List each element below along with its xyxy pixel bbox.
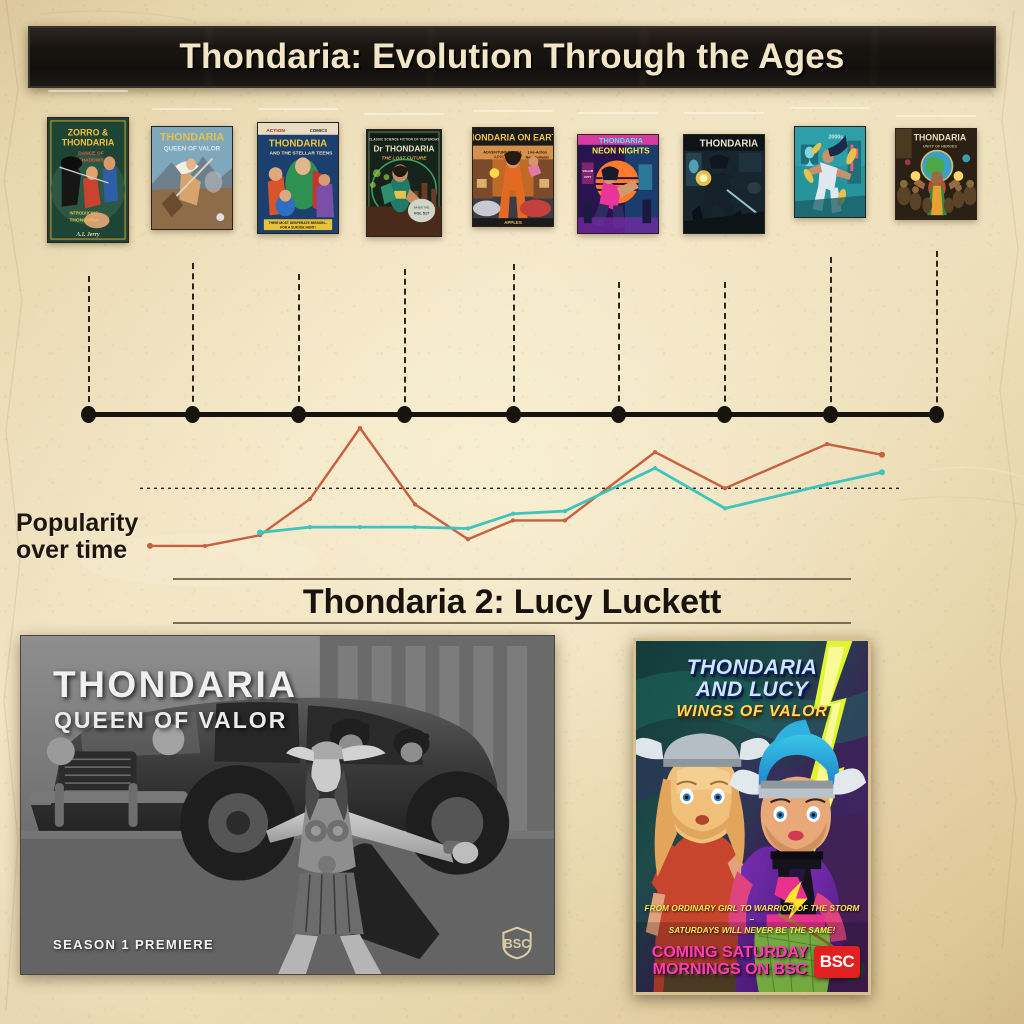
cover-artwork: THONDARIA ON EARTH ADVENTURES WITH APPLE… — [473, 128, 553, 226]
cover-artwork: THONDARIA NEON NIGHTS VALOR CITY — [578, 135, 658, 233]
svg-text:APPLES: APPLES — [504, 220, 522, 225]
chart-point — [203, 544, 207, 548]
svg-text:COMICS: COMICS — [310, 128, 328, 133]
cover-artwork: CLASSIC SCIENCE FICTION OF YESTERDAY Dr … — [367, 130, 441, 236]
svg-text:2000s: 2000s — [828, 135, 843, 141]
chart-point — [723, 506, 727, 510]
svg-text:THONDARIA: THONDARIA — [599, 136, 644, 145]
chart-series-1 — [257, 466, 885, 535]
cover-artwork: THONDARIA UNITY OF HEROES — [896, 129, 976, 219]
poster-bw-title: THONDARIA — [53, 664, 297, 706]
cover-artwork: THONDARIA QUEEN OF VALOR — [152, 127, 232, 229]
section2-rule-bottom — [173, 622, 851, 624]
chart-point — [466, 537, 470, 541]
chart-point — [257, 530, 263, 536]
infographic-poster: Thondaria: Evolution Through the Ages ZO… — [0, 0, 1024, 1024]
cover-thumbnail-1960s[interactable]: CLASSIC SCIENCE FICTION OF YESTERDAY Dr … — [366, 129, 442, 237]
chart-point — [563, 518, 567, 522]
svg-text:BSC: BSC — [504, 936, 531, 951]
poster-bw-subtitle: QUEEN OF VALOR — [54, 707, 287, 734]
chart-point — [653, 466, 657, 470]
svg-text:ZORRO &: ZORRO & — [68, 128, 109, 138]
section2-title: Thondaria 2: Lucy Luckett — [0, 583, 1024, 622]
timeline-tick-2000s — [830, 257, 832, 412]
chart-point — [413, 502, 417, 506]
chart-point — [825, 442, 829, 446]
title-banner: Thondaria: Evolution Through the Ages — [28, 26, 996, 88]
cover-artwork: ACTION COMICS THONDARIA AND THE STELLAR … — [258, 123, 338, 233]
timeline-tick-1950s — [298, 274, 300, 412]
decade-label-1930s — [48, 90, 128, 92]
svg-text:THE LOST FUTURE: THE LOST FUTURE — [381, 155, 427, 161]
timeline-tick-1980s — [618, 282, 620, 413]
chart-point — [653, 450, 657, 454]
decade-label-2000s — [790, 107, 870, 109]
chart-point — [308, 525, 312, 529]
cover-thumbnail-1980s[interactable]: THONDARIA NEON NIGHTS VALOR CITY — [577, 134, 659, 234]
chart-series-0 — [147, 426, 885, 549]
decade-label-1950s — [258, 108, 338, 110]
svg-text:CITY: CITY — [584, 175, 592, 179]
cover-thumbnail-1970s[interactable]: THONDARIA ON EARTH ADVENTURES WITH APPLE… — [472, 127, 554, 227]
svg-text:ACTION: ACTION — [266, 128, 285, 134]
poster-bw-footer: SEASON 1 PREMIERE — [53, 937, 214, 952]
section2-rule-top — [173, 578, 851, 580]
chart-axis-label: Popularity over time — [16, 510, 138, 564]
svg-text:VOL 517: VOL 517 — [414, 210, 430, 215]
chart-point — [466, 526, 470, 530]
svg-text:Dr THONDARIA: Dr THONDARIA — [373, 144, 434, 154]
svg-text:WHEN THE: WHEN THE — [414, 206, 430, 210]
bsc-shield-icon: BSC — [500, 926, 534, 960]
chart-point — [358, 426, 362, 430]
svg-text:THONDARIA: THONDARIA — [914, 133, 967, 143]
poster-color-title: THONDARIA AND LUCY — [636, 657, 868, 701]
cover-artwork: ZORRO & THONDARIA DANCE OF SHADOWS INTRO… — [48, 118, 128, 242]
poster-thondaria-queen-of-valor[interactable]: THONDARIA QUEEN OF VALOR SEASON 1 PREMIE… — [20, 635, 555, 975]
page-title: Thondaria: Evolution Through the Ages — [179, 37, 844, 77]
svg-text:NEON NIGHTS: NEON NIGHTS — [592, 146, 650, 156]
decade-label-1940s — [152, 108, 232, 110]
svg-text:VALOR: VALOR — [582, 169, 593, 173]
timeline-tick-1940s — [192, 263, 194, 412]
svg-text:THEIR MOST DESPERATE MISSION..: THEIR MOST DESPERATE MISSION... — [269, 221, 328, 225]
cover-thumbnail-1990s[interactable]: THONDARIA — [683, 134, 765, 234]
chart-point — [879, 452, 885, 458]
svg-text:THONDARIA: THONDARIA — [69, 217, 99, 223]
chart-point — [723, 486, 727, 490]
svg-text:FOR A SUICIDE HUNT!: FOR A SUICIDE HUNT! — [280, 226, 316, 230]
svg-text:Live-Action: Live-Action — [528, 150, 547, 154]
chart-point — [879, 469, 885, 475]
cover-thumbnail-2020s[interactable]: THONDARIA UNITY OF HEROES — [895, 128, 977, 220]
cover-thumbnail-1950s[interactable]: ACTION COMICS THONDARIA AND THE STELLAR … — [257, 122, 339, 234]
chart-point — [413, 525, 417, 529]
svg-text:UNITY OF HEROES: UNITY OF HEROES — [923, 145, 957, 149]
chart-point — [358, 525, 362, 529]
poster-color-tagline: FROM ORDINARY GIRL TO WARRIOR OF THE STO… — [642, 903, 862, 936]
svg-text:THONDARIA: THONDARIA — [62, 138, 115, 148]
timeline-tick-1990s — [724, 282, 726, 413]
chart-point — [563, 509, 567, 513]
cover-thumbnail-1940s[interactable]: THONDARIA QUEEN OF VALOR — [151, 126, 233, 230]
svg-text:INTRODUCING: INTRODUCING — [69, 210, 98, 215]
bsc-logo-badge: BSC — [814, 946, 860, 978]
chart-point — [825, 482, 829, 486]
chart-point — [308, 497, 312, 501]
svg-text:A.I. Jerry: A.I. Jerry — [75, 232, 100, 238]
timeline-tick-2020s — [936, 251, 938, 413]
svg-text:AND THE STELLAR TEENS: AND THE STELLAR TEENS — [269, 150, 333, 156]
svg-text:THONDARIA: THONDARIA — [160, 132, 225, 144]
cover-thumbnail-2000s[interactable]: 2000s — [794, 126, 866, 218]
decade-label-1960s — [364, 113, 444, 115]
svg-text:THONDARIA: THONDARIA — [269, 139, 327, 150]
decade-label-1980s — [578, 112, 658, 114]
chart-point — [511, 512, 515, 516]
chart-point — [511, 518, 515, 522]
decade-label-1970s — [473, 110, 553, 112]
decade-label-2020s — [896, 115, 976, 117]
popularity-line-chart — [0, 420, 1024, 580]
timeline-tick-1960s — [404, 269, 406, 412]
svg-text:THONDARIA: THONDARIA — [700, 139, 758, 150]
svg-text:THONDARIA ON EARTH: THONDARIA ON EARTH — [473, 133, 553, 143]
svg-text:DANCE OF: DANCE OF — [78, 150, 103, 156]
decade-label-1990s — [684, 112, 764, 114]
cover-thumbnail-1930s[interactable]: ZORRO & THONDARIA DANCE OF SHADOWS INTRO… — [47, 117, 129, 243]
svg-text:SHADOWS: SHADOWS — [78, 157, 104, 163]
svg-text:CLASSIC SCIENCE FICTION OF YES: CLASSIC SCIENCE FICTION OF YESTERDAY — [369, 137, 440, 141]
poster-color-subtitle: WINGS OF VALOR — [636, 703, 868, 721]
svg-text:QUEEN OF VALOR: QUEEN OF VALOR — [164, 146, 221, 153]
poster-color-cta: COMING SATURDAY MORNINGS ON BSC — [640, 944, 820, 978]
cover-artwork: 2000s — [795, 127, 865, 217]
poster-thondaria-and-lucy[interactable]: THONDARIA AND LUCY WINGS OF VALOR FROM O… — [633, 638, 871, 995]
cover-artwork: THONDARIA — [684, 135, 764, 233]
timeline-tick-1930s — [88, 276, 90, 412]
timeline-tick-1970s — [513, 264, 515, 412]
chart-point — [147, 543, 153, 549]
